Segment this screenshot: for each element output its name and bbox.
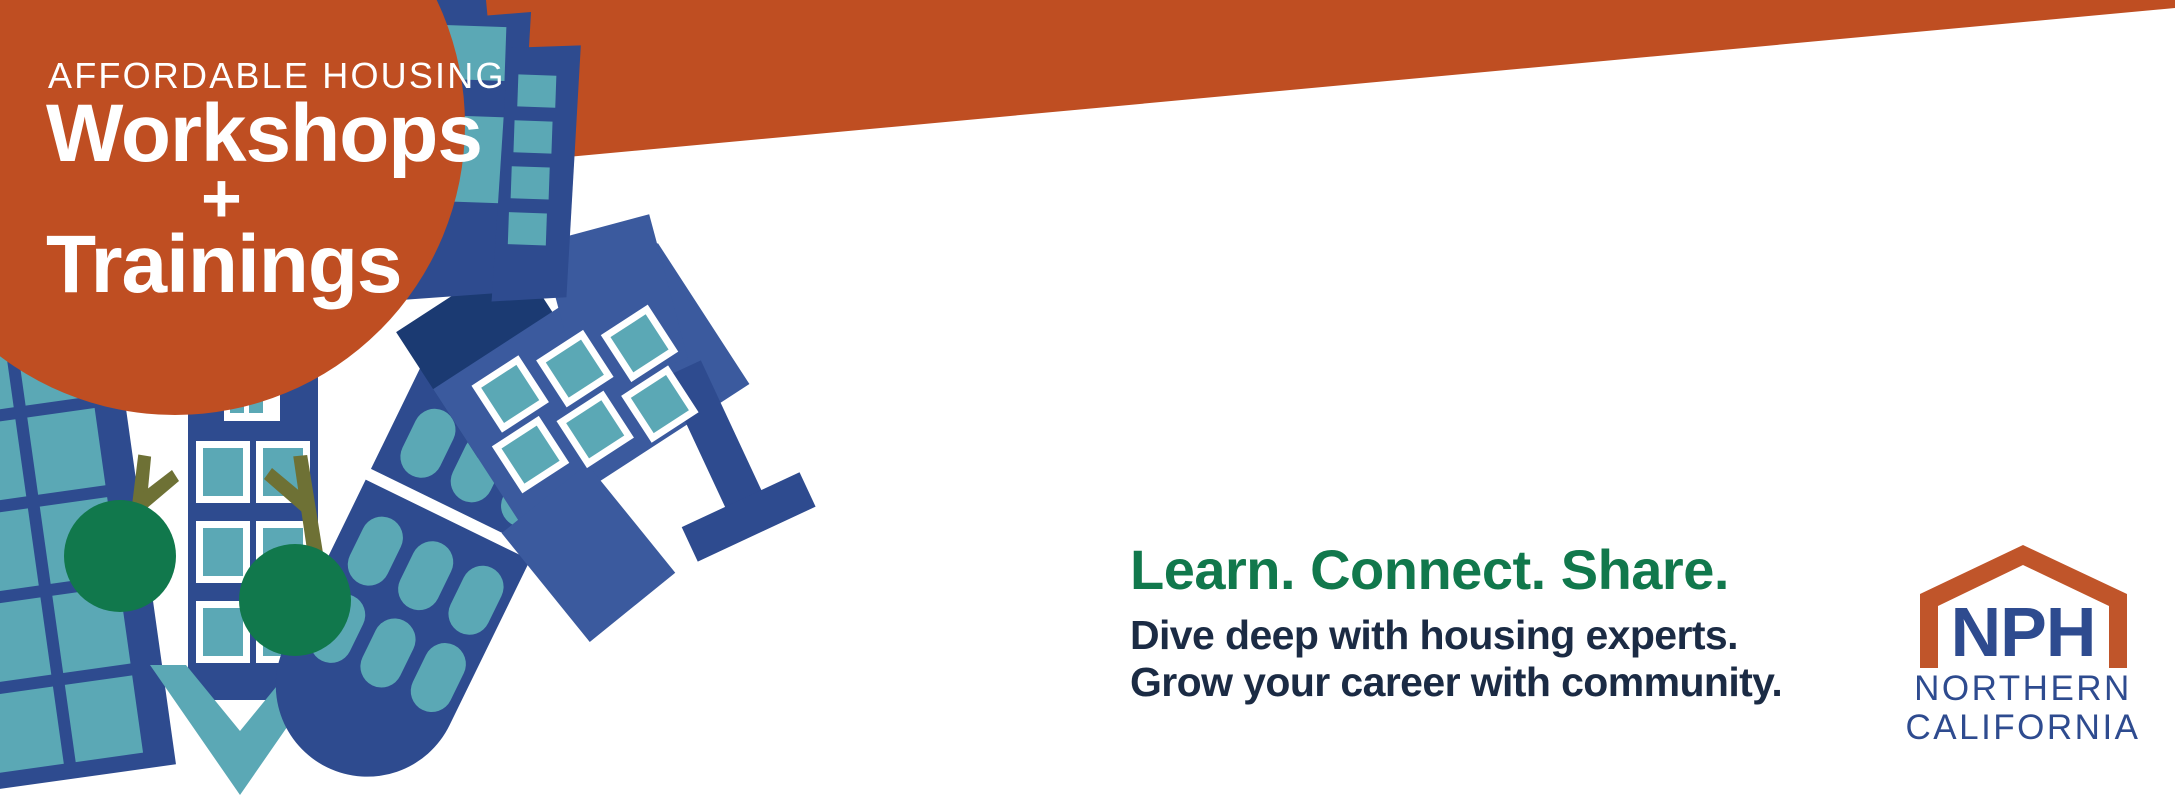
tree-canopy-left	[64, 500, 176, 612]
banner-artwork	[0, 0, 2175, 803]
banner-root: AFFORDABLE HOUSING Workshops + Trainings…	[0, 0, 2175, 803]
tree-canopy-right	[239, 544, 351, 656]
nph-logo: NPH NORTHERN CALIFORNIA	[1906, 540, 2141, 752]
logo-mark: NPH	[1951, 593, 2096, 671]
logo-name-line-1: NORTHERN	[1914, 669, 2132, 708]
logo-name-line-2: CALIFORNIA	[1906, 708, 2141, 747]
